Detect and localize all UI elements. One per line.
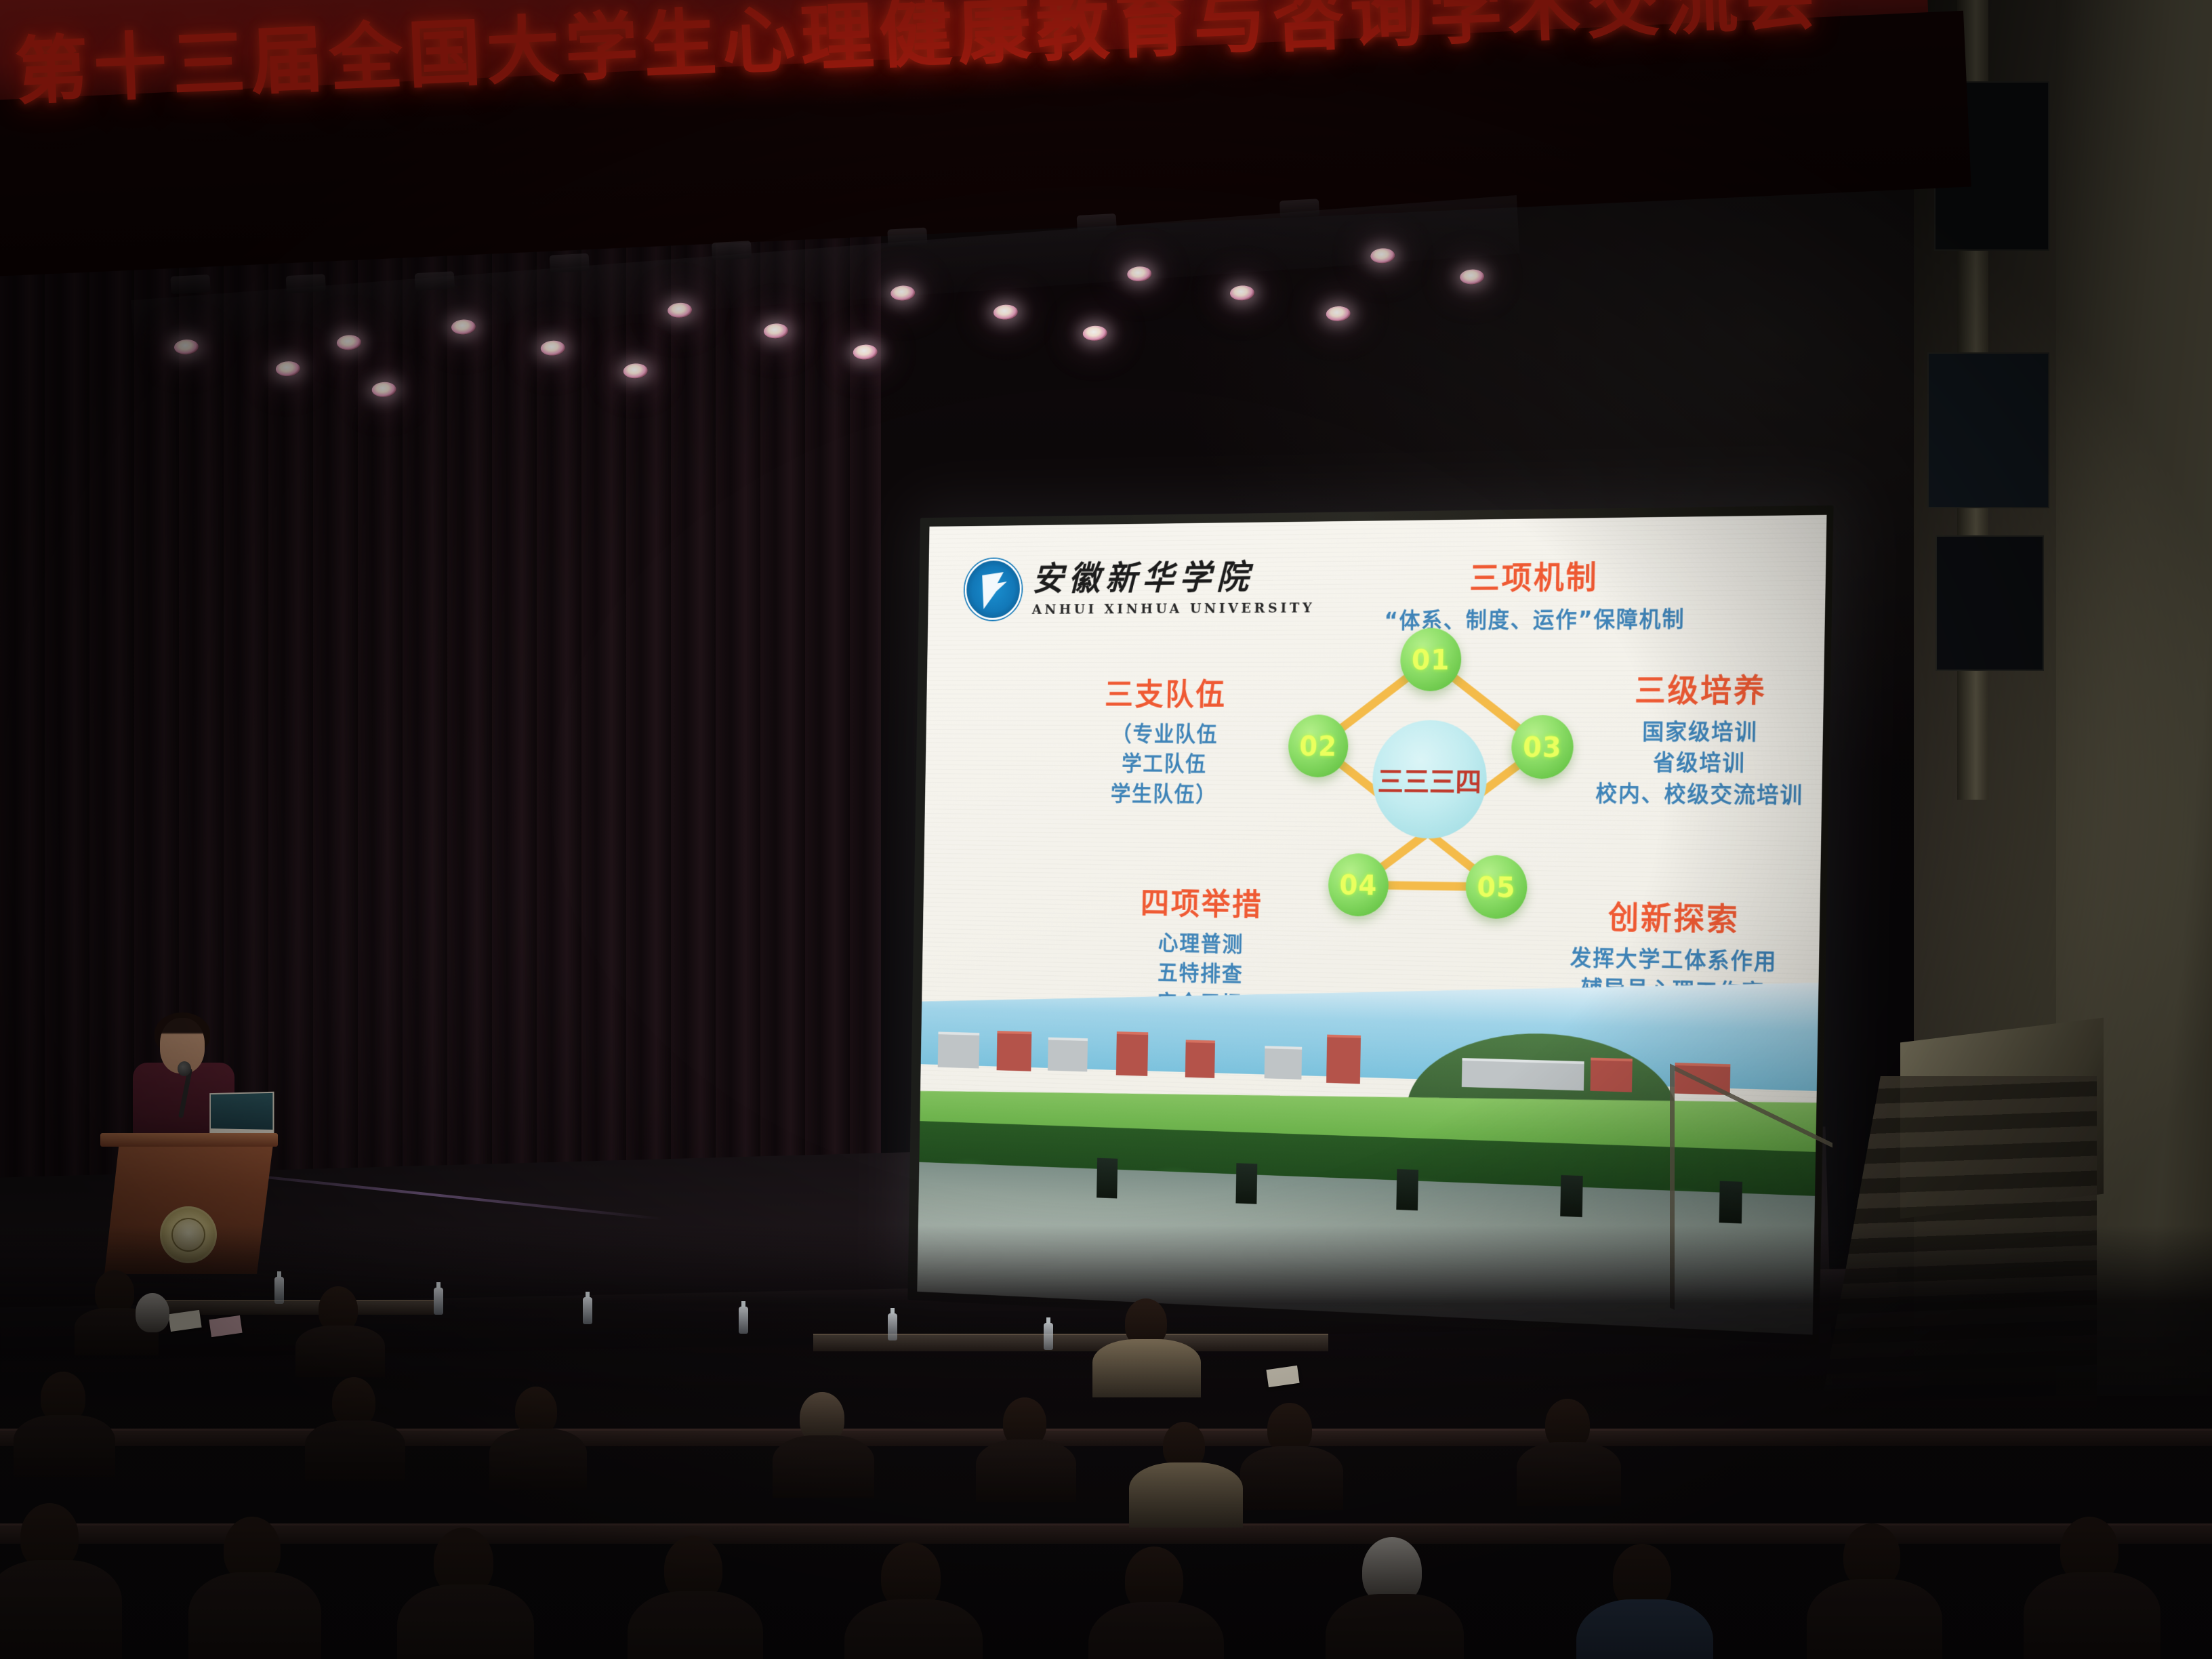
stage-spotlight — [1127, 266, 1152, 282]
audience-shoulders — [1517, 1442, 1621, 1506]
light-fixture — [550, 253, 590, 273]
block-line: （专业队伍 — [1038, 720, 1294, 749]
university-name-en: ANHUI XINHUA UNIVERSITY — [1032, 600, 1315, 616]
water-bottle — [583, 1297, 592, 1324]
photo-building — [996, 1031, 1031, 1071]
block-heading: 三项机制 — [1368, 557, 1704, 600]
diagram-center-label: 三三三四 — [1377, 759, 1481, 799]
audience-shoulders — [1326, 1594, 1464, 1659]
light-fixture — [887, 228, 927, 247]
audience-shoulders — [628, 1591, 763, 1659]
block-line: 校内、校级交流培训 — [1545, 779, 1826, 810]
audience-shoulders — [976, 1439, 1076, 1502]
light-fixture — [415, 271, 455, 291]
stage-spotlight — [371, 382, 396, 398]
audience-shoulders — [397, 1584, 534, 1659]
block-line: 学工队伍 — [1038, 750, 1293, 779]
wall-panel — [1927, 352, 2049, 508]
photo-building — [1326, 1035, 1361, 1084]
stage-spotlight — [336, 334, 361, 350]
five-point-star-diagram: 三三三四 01 02 03 04 05 — [1279, 630, 1582, 943]
photo-pier — [1396, 1169, 1418, 1210]
stage-spotlight — [890, 285, 916, 302]
block-lines: 国家级培训 省级培训 校内、校级交流培训 — [1545, 718, 1826, 810]
photo-building — [1116, 1031, 1148, 1076]
block-line: 省级培训 — [1546, 749, 1827, 779]
audience-shoulders — [1092, 1339, 1201, 1397]
university-crest-icon — [964, 558, 1022, 620]
photo-building — [1461, 1058, 1584, 1090]
audience-shoulders — [1576, 1599, 1713, 1659]
audience-head — [332, 1377, 375, 1427]
light-fixture — [170, 274, 210, 294]
photo-building — [1265, 1046, 1303, 1080]
laptop-icon — [209, 1092, 274, 1135]
audience-shoulders — [1129, 1462, 1243, 1528]
audience-head — [136, 1293, 169, 1332]
stage-spotlight — [451, 319, 476, 335]
stage-spotlight — [275, 361, 300, 377]
block-heading: 三级培养 — [1547, 671, 1826, 712]
photo-pier — [1560, 1175, 1582, 1217]
stage-spotlight — [763, 323, 788, 339]
photo-building — [937, 1031, 979, 1068]
university-logo: 安徽新华学院 ANHUI XINHUA UNIVERSITY — [964, 556, 1315, 620]
photo-pier — [1097, 1158, 1118, 1199]
stage-spotlight — [623, 363, 648, 379]
slide-block-right: 三级培养 国家级培训 省级培训 校内、校级交流培训 — [1545, 671, 1826, 810]
water-bottle — [434, 1288, 443, 1315]
audience-shoulders — [844, 1599, 983, 1659]
audience-shoulders — [773, 1435, 874, 1498]
water-bottle — [739, 1307, 748, 1334]
microphone-icon — [178, 1061, 191, 1076]
audience-shoulders — [295, 1326, 385, 1377]
audience-shoulders — [1240, 1446, 1343, 1510]
light-fixture — [1077, 213, 1117, 233]
conference-table — [163, 1300, 434, 1315]
university-logo-text: 安徽新华学院 ANHUI XINHUA UNIVERSITY — [1032, 560, 1316, 615]
audience-area — [0, 1225, 2212, 1659]
university-name-cn: 安徽新华学院 — [1032, 560, 1315, 596]
audience-shoulders — [305, 1420, 405, 1481]
stage-spotlight — [993, 304, 1018, 321]
block-line: 国家级培训 — [1547, 718, 1827, 747]
light-fixture — [286, 274, 326, 293]
stage-spotlight — [540, 340, 565, 356]
audience-shoulders — [2024, 1572, 2160, 1659]
handout-paper — [168, 1310, 201, 1332]
light-fixture — [1279, 199, 1319, 218]
stage-spotlight — [853, 344, 878, 361]
handout-paper — [1266, 1366, 1299, 1387]
block-line: 发挥大学工体系作用 — [1491, 943, 1826, 979]
audience-shoulders — [188, 1572, 321, 1659]
stage-spotlight — [1082, 325, 1107, 342]
block-lines: （专业队伍 学工队伍 学生队伍） — [1037, 720, 1294, 808]
wall-panel — [1935, 535, 2044, 671]
photo-building — [1590, 1058, 1632, 1092]
photo-building — [1048, 1038, 1088, 1072]
handout-paper — [209, 1315, 242, 1337]
photo-pier — [1236, 1163, 1258, 1204]
audience-shoulders — [1807, 1579, 1942, 1659]
stage-spotlight — [173, 339, 199, 355]
audience-shoulders — [1088, 1602, 1224, 1659]
water-bottle — [274, 1277, 284, 1304]
audience-shoulders — [489, 1429, 587, 1490]
audience-shoulders — [14, 1415, 115, 1477]
light-fixture — [712, 241, 752, 260]
water-bottle — [1044, 1323, 1053, 1350]
podium-top — [100, 1133, 278, 1147]
block-heading: 三支队伍 — [1039, 676, 1295, 715]
water-bottle — [888, 1313, 897, 1340]
photo-building — [1185, 1040, 1215, 1078]
auditorium-scene: 第十三届全国大学生心理健康教育与咨询学术交流会 — [0, 0, 2212, 1659]
slide-block-top: 三项机制 “体系、制度、运作”保障机制 — [1368, 557, 1704, 635]
stage-spotlight — [668, 302, 693, 319]
slide-block-left: 三支队伍 （专业队伍 学工队伍 学生队伍） — [1037, 676, 1294, 809]
stage-spotlight — [1326, 306, 1351, 322]
stage-spotlight — [1460, 269, 1485, 285]
block-line: 学生队伍） — [1037, 779, 1292, 808]
stage-spotlight — [1229, 285, 1254, 301]
audience-shoulders — [0, 1560, 122, 1659]
